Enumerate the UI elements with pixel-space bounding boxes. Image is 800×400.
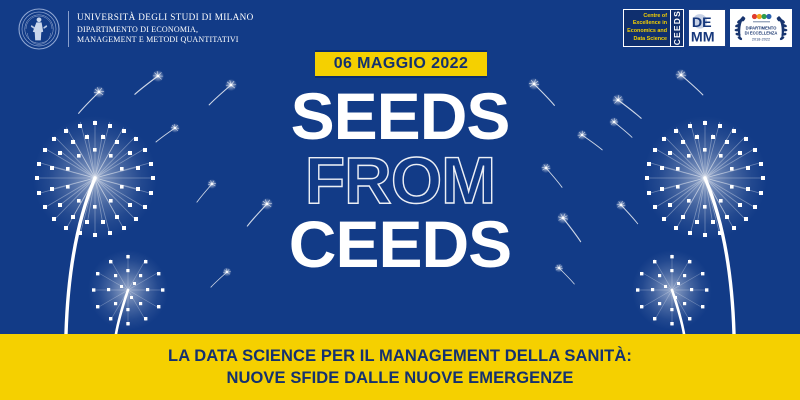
university-lockup: UNIVERSITÀ DEGLI STUDI DI MILANO DIPARTI… <box>18 8 254 50</box>
title-line-from: FROM <box>0 148 800 212</box>
ceeds-tagline-line-1: Centre of <box>643 13 667 21</box>
title-line-seeds: SEEDS <box>0 84 800 148</box>
department-name: DIPARTIMENTO DI ECONOMIA, MANAGEMENT E M… <box>77 25 254 45</box>
ceeds-acronym-text: CEEDS <box>672 10 682 45</box>
department-line-1: DIPARTIMENTO DI ECONOMIA, <box>77 25 254 35</box>
ceeds-tagline-line-4: Data Science <box>633 36 667 44</box>
event-date-chip: 06 MAGGIO 2022 <box>315 50 487 78</box>
excellence-badge[interactable]: DIPARTIMENTO DI ECCELLENZA 2018-2022 DIP… <box>730 9 792 47</box>
excellence-title-2-text: DI ECCELLENZA <box>745 30 778 35</box>
ceeds-acronym: CEEDS <box>670 10 683 46</box>
event-date: 06 MAGGIO 2022 <box>334 55 469 73</box>
ceeds-tagline-line-3: Economics and <box>627 28 667 36</box>
subtitle-line-2: NUOVE SFIDE DALLE NUOVE EMERGENZE <box>226 369 573 387</box>
event-title: SEEDS FROM CEEDS <box>0 84 800 276</box>
demm-line-2-text: MM <box>691 29 715 45</box>
title-line-ceeds: CEEDS <box>0 212 800 276</box>
department-line-2: MANAGEMENT E METODI QUANTITATIVI <box>77 35 254 45</box>
laurel-wreath-icon: DIPARTIMENTO DI ECCELLENZA 2018-2022 <box>730 9 792 47</box>
partner-logo-cluster: Centre of Excellence in Economics and Da… <box>623 9 792 47</box>
lockup-divider <box>68 11 69 47</box>
excellence-years-text: 2018-2022 <box>752 37 770 41</box>
demm-mark-icon: DE MM <box>689 10 725 46</box>
subtitle-banner: LA DATA SCIENCE PER IL MANAGEMENT DELLA … <box>0 334 800 400</box>
university-name: UNIVERSITÀ DEGLI STUDI DI MILANO <box>77 13 254 23</box>
university-text: UNIVERSITÀ DEGLI STUDI DI MILANO DIPARTI… <box>77 13 254 44</box>
subtitle-line-1: LA DATA SCIENCE PER IL MANAGEMENT DELLA … <box>168 347 632 365</box>
ceeds-tagline-line-2: Excellence in <box>633 20 667 28</box>
demm-logo[interactable]: DE MM DE MM <box>688 9 726 47</box>
ceeds-tagline: Centre of Excellence in Economics and Da… <box>624 10 670 46</box>
university-seal-icon <box>18 8 60 50</box>
ceeds-logo[interactable]: Centre of Excellence in Economics and Da… <box>623 9 684 47</box>
event-banner: UNIVERSITÀ DEGLI STUDI DI MILANO DIPARTI… <box>0 0 800 400</box>
